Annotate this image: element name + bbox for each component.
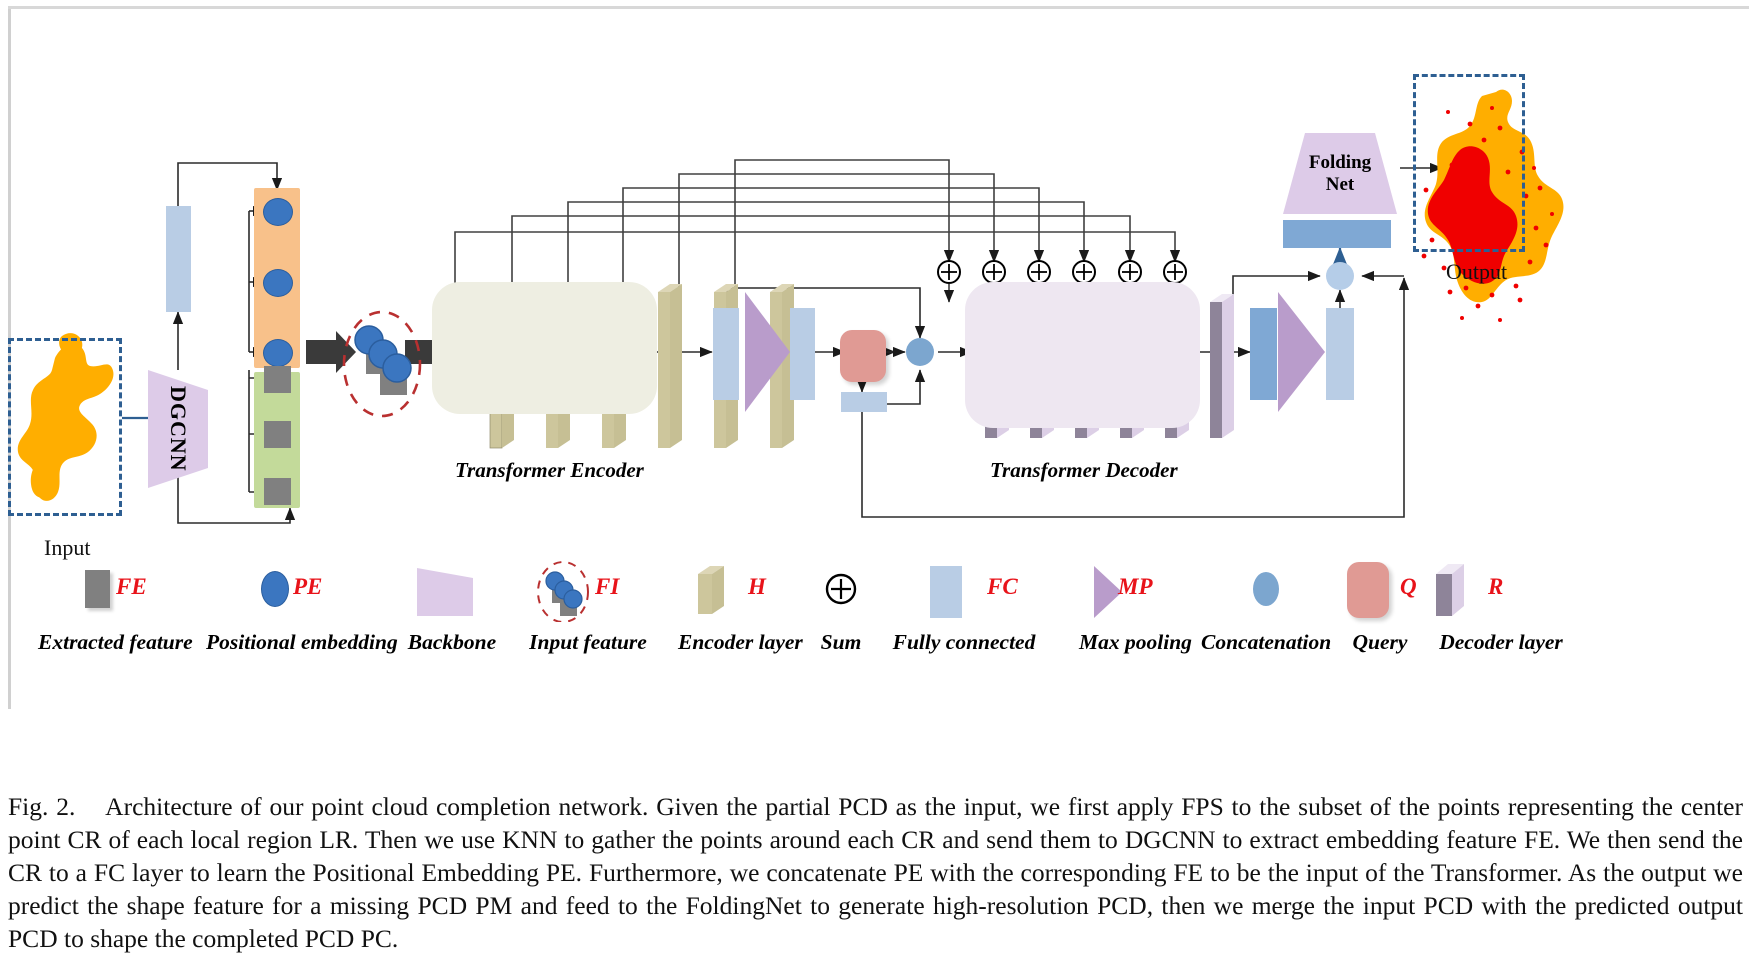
- fe-token-1: [264, 366, 291, 393]
- pe-token-1: [263, 198, 293, 226]
- transformer-decoder-group: [965, 282, 1200, 428]
- output-dashed-box: [1413, 74, 1525, 252]
- legend-icon-decoder-slab-icon: [1432, 562, 1478, 618]
- pe-token-3: [263, 339, 293, 367]
- fe-token-3: [264, 478, 291, 505]
- legend-name-query: Query: [1349, 630, 1411, 655]
- foldingnet-label: Folding Net: [1281, 131, 1399, 216]
- fc-bar-positional: [166, 206, 191, 312]
- caption-text: Architecture of our point cloud completi…: [8, 792, 1743, 953]
- legend-name-max-pooling: Max pooling: [1079, 630, 1191, 655]
- legend-code-mp: MP: [1118, 574, 1153, 600]
- query-fc-small: [841, 392, 887, 412]
- input-feature-token-group: [344, 312, 420, 416]
- legend-code-pe: PE: [293, 574, 322, 600]
- legend-icon-blue-ellipse-icon: [1253, 572, 1279, 606]
- final-fc: [1326, 308, 1354, 400]
- transformer-encoder-group: [432, 282, 657, 414]
- figure-page: Input DGCNN Transformer Encoder Transfor…: [0, 0, 1749, 964]
- legend: FE Extracted feature PE Positional embed…: [0, 548, 1749, 668]
- output-label: Output: [1446, 259, 1507, 285]
- transformer-decoder-label: Transformer Decoder: [990, 458, 1178, 483]
- legend-code-fi: FI: [595, 574, 619, 600]
- figure-caption: Fig. 2. Architecture of our point cloud …: [8, 790, 1743, 955]
- legend-code-q: Q: [1400, 574, 1417, 600]
- legend-code-fe: FE: [116, 574, 147, 600]
- legend-name-concatenation: Concatenation: [1201, 630, 1329, 655]
- legend-name-extracted-feature: Extracted feature: [38, 630, 188, 655]
- legend-name-decoder-layer: Decoder layer: [1426, 630, 1576, 655]
- legend-code-fc: FC: [987, 574, 1018, 600]
- caption-figure-number: Fig. 2.: [8, 792, 75, 821]
- foldingnet-block: Folding Net: [1281, 131, 1399, 216]
- query-box: [840, 330, 886, 382]
- legend-icon-blue-circle-icon: [261, 571, 289, 607]
- transformer-encoder-label: Transformer Encoder: [455, 458, 644, 483]
- global-feature-bar: [1283, 220, 1391, 248]
- pe-token-2: [263, 269, 293, 297]
- concatenation-node-final: [1326, 262, 1354, 290]
- dgcnn-backbone: DGCNN: [146, 368, 210, 490]
- legend-code-r: R: [1488, 574, 1503, 600]
- legend-icon-circled-plus-icon: [822, 570, 860, 608]
- legend-code-h: H: [748, 574, 766, 600]
- legend-name-positional-embedding: Positional embedding: [206, 630, 391, 655]
- legend-name-input-feature: Input feature: [528, 630, 648, 655]
- input-dashed-box: [8, 338, 122, 516]
- legend-icon-grey-square-icon: [85, 570, 110, 608]
- legend-name-encoder-layer: Encoder layer: [678, 630, 800, 655]
- concatenation-node-encoder: [906, 338, 934, 366]
- legend-icon-blue-bar-icon: [930, 566, 962, 618]
- legend-icon-red-rounded-box-icon: [1347, 562, 1389, 618]
- post-maxpool-fc: [790, 308, 815, 400]
- sum-node-group: [938, 261, 1186, 283]
- decoder-out-fc: [1250, 308, 1277, 400]
- legend-icon-trapezoid-icon: [415, 564, 477, 616]
- legend-icon-encoder-slab-icon: [694, 564, 740, 616]
- legend-name-fully-connected: Fully connected: [888, 630, 1040, 655]
- legend-icon-dashed-ellipse-tokens-icon: [531, 560, 593, 622]
- dgcnn-label: DGCNN: [146, 368, 210, 490]
- legend-name-sum: Sum: [808, 630, 874, 655]
- legend-name-backbone: Backbone: [406, 630, 498, 655]
- fe-token-2: [264, 421, 291, 448]
- encoder-out-fc: [713, 308, 739, 400]
